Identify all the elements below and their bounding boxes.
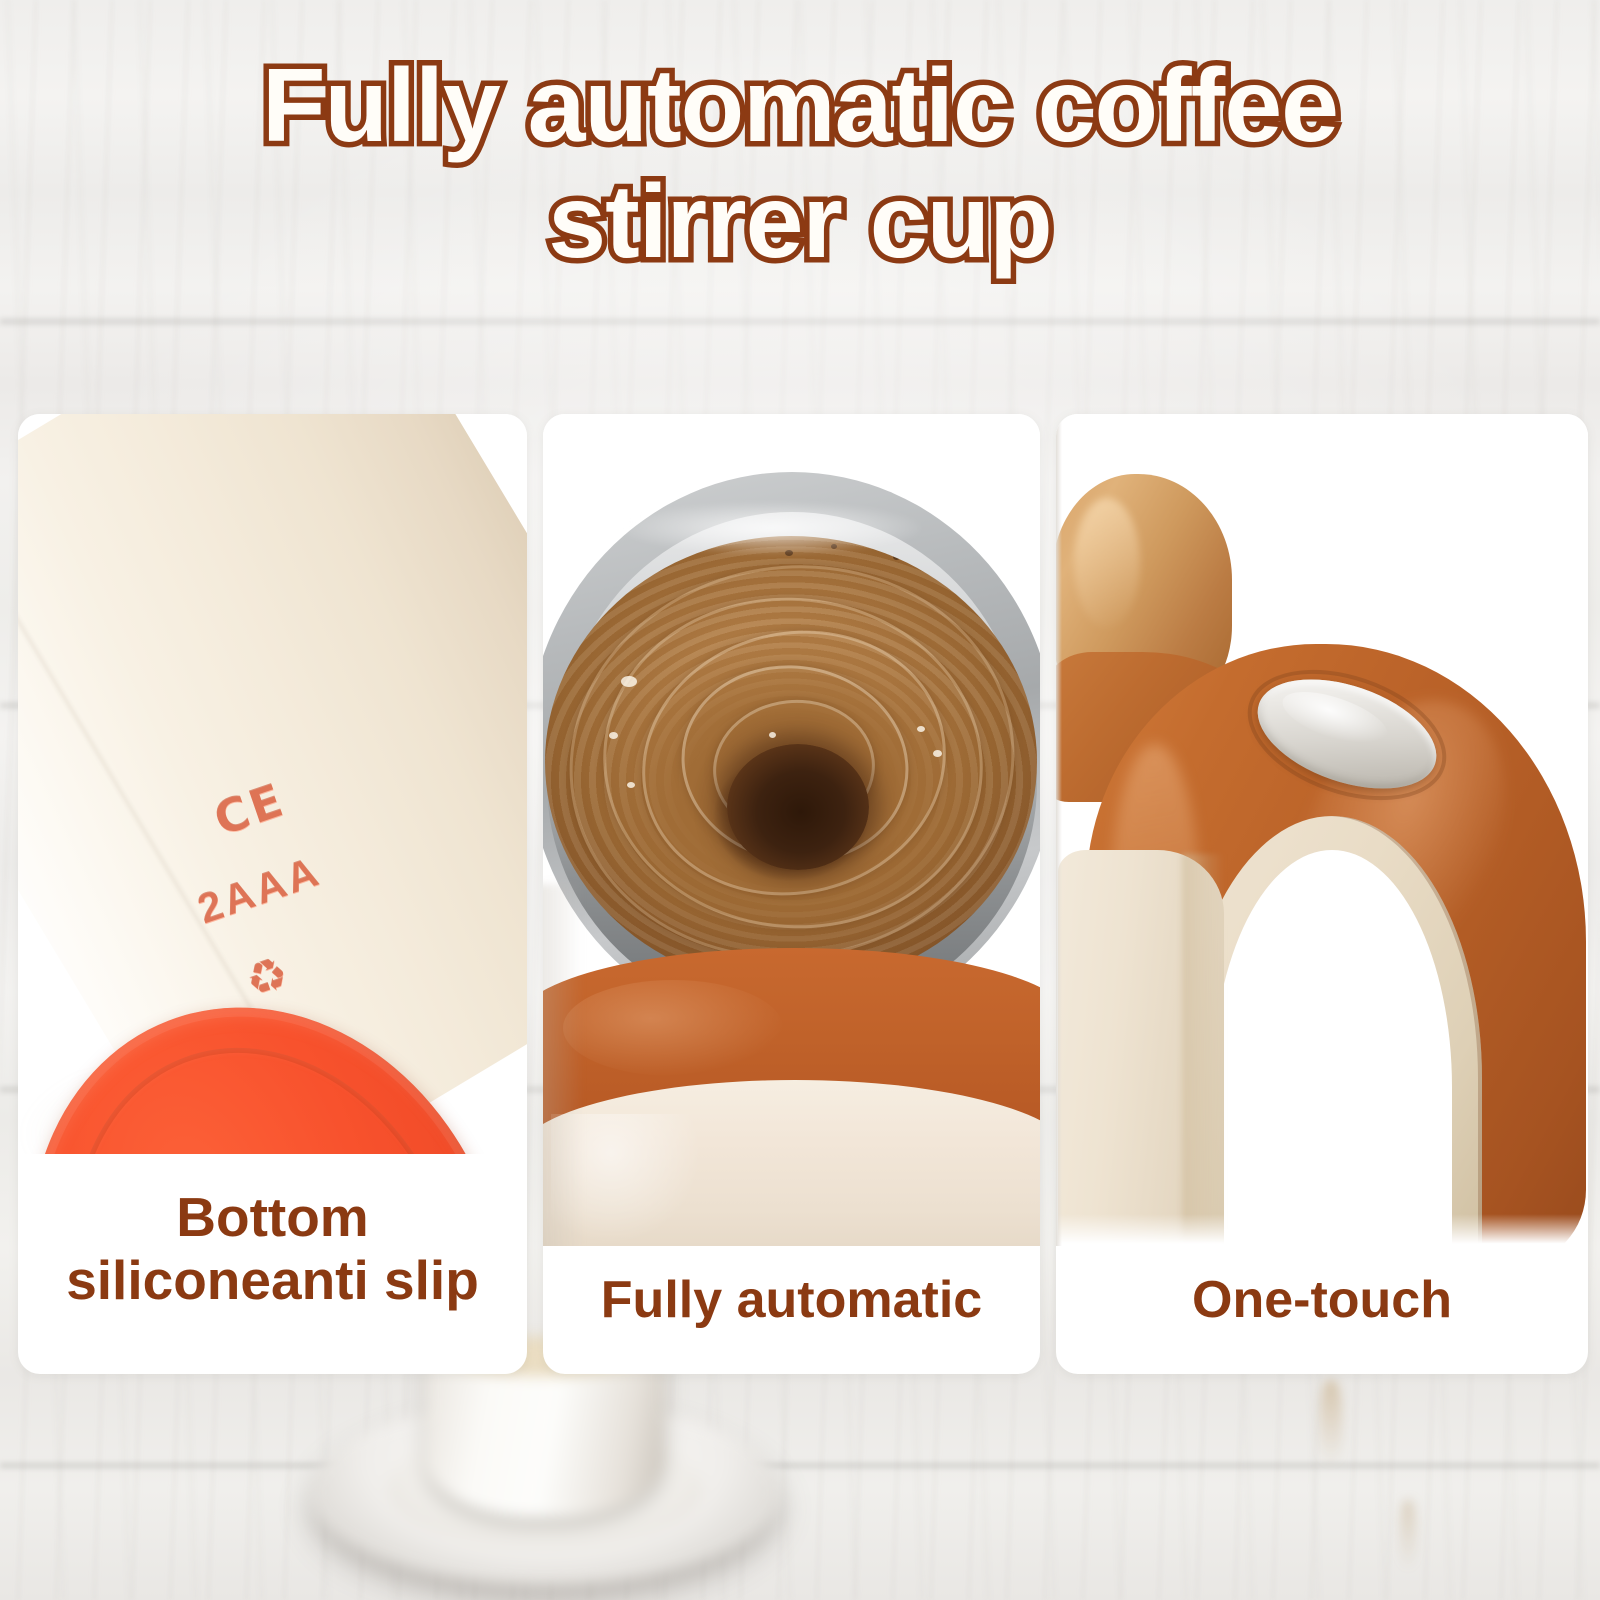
foam-bubble [769,732,776,738]
lid-highlight [1074,498,1140,628]
handle-scene [1056,414,1588,1246]
product-photo-one-touch [1056,414,1588,1246]
feature-card-one-touch[interactable]: One-touch [1056,414,1588,1374]
foam-bubble [621,676,637,687]
foam-bubble [627,782,635,788]
photo-bottom-fade [1056,1214,1588,1246]
feature-card-bottom[interactable]: CE 2AAA ♻ Bottom siliconeanti slip [18,414,527,1374]
caption-bottom: Bottom siliconeanti slip [18,1154,527,1374]
body-edge-shading [1182,854,1224,1246]
product-photo-bottom: CE 2AAA ♻ [18,414,527,1154]
background-coffee-cup [310,1345,780,1600]
page-title: Fully automatic coffee stirrer cup [0,48,1600,281]
foam-bubble [609,732,618,739]
product-photo-automatic [543,414,1040,1246]
photo-left-shading [543,884,583,1246]
foam-bubble [933,750,942,757]
title-line-2: stirrer cup [0,164,1600,280]
coffee-vortex [545,536,1037,988]
title-line-1: Fully automatic coffee [262,48,1338,164]
photo-left-shading [1056,414,1062,1246]
caption-automatic: Fully automatic [543,1246,1040,1374]
coffee-speck [893,554,900,560]
rim-highlight [621,502,921,554]
coffee-drip [1320,1380,1342,1466]
caption-one-touch: One-touch [1056,1246,1588,1374]
vortex-center-hole [727,744,869,870]
feature-card-automatic[interactable]: Fully automatic [543,414,1040,1374]
foam-bubble [917,726,925,732]
feature-panel-row: CE 2AAA ♻ Bottom siliconeanti slip [18,414,1588,1374]
vortex-scene [543,414,1040,1246]
coffee-speck [651,560,660,567]
band-highlight [563,980,783,1076]
coffee-drip [1400,1500,1416,1570]
